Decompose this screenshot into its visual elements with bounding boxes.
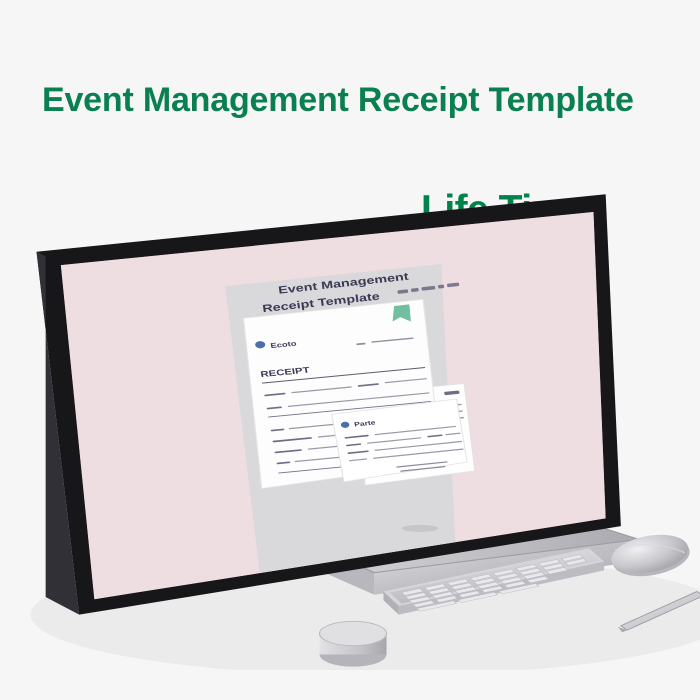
desktop-computer-illustration: Event Management Receipt Template bbox=[0, 150, 700, 670]
page-title: Event Management Receipt Template bbox=[42, 81, 634, 120]
desk-puck[interactable] bbox=[320, 621, 387, 666]
poster-canvas: Event Management Receipt Template Life T… bbox=[0, 0, 700, 700]
